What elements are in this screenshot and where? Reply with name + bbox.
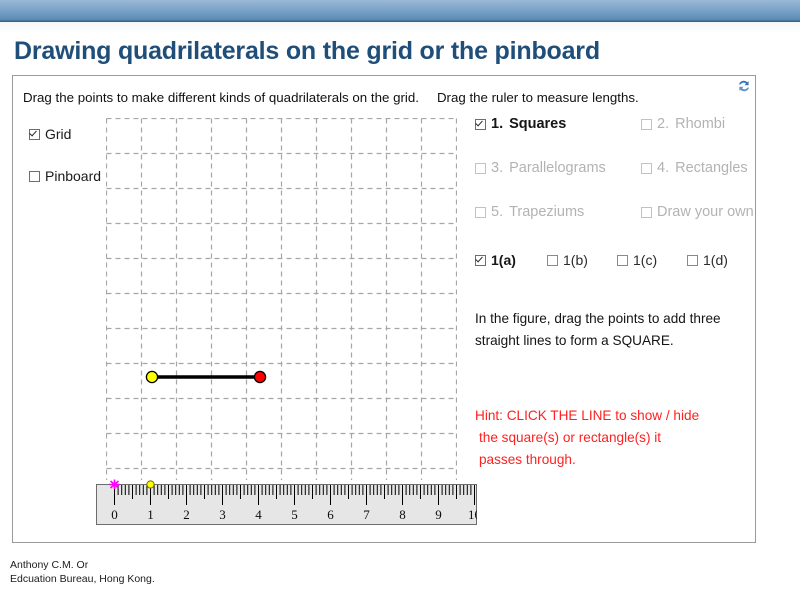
option-rhombi-label: Rhombi xyxy=(675,116,725,132)
sub-option-1a-label: 1(a) xyxy=(491,252,516,268)
checkbox-pinboard-box[interactable] xyxy=(29,171,40,182)
hint-block: Hint: CLICK THE LINE to show / hide the … xyxy=(475,405,756,471)
checkbox-grid-box[interactable] xyxy=(29,129,40,140)
yellow-drag-point xyxy=(146,371,157,382)
option-parallelograms-label: Parallelograms xyxy=(509,160,606,176)
option-trapeziums-box[interactable] xyxy=(475,207,486,218)
option-squares-box[interactable] xyxy=(475,119,486,130)
instructions-right-text: Drag the ruler to measure lengths. xyxy=(437,90,639,105)
sub-option-1c-box[interactable] xyxy=(617,255,628,266)
page-title: Drawing quadrilaterals on the grid or th… xyxy=(14,37,774,66)
sub-option-1b-label: 1(b) xyxy=(563,252,588,268)
sub-option-1b[interactable]: 1(b) xyxy=(547,252,588,268)
option-parallelograms-box[interactable] xyxy=(475,163,486,174)
yellow-ruler-marker xyxy=(147,481,154,488)
svg-text:4: 4 xyxy=(255,507,262,522)
grid-lines xyxy=(107,119,458,481)
option-draw-your-own-label: Draw your own xyxy=(657,204,754,220)
display-mode-controls: Grid Pinboard xyxy=(29,126,115,210)
ruler[interactable]: 0 1 2 3 4 5 6 7 8 9 10 xyxy=(96,479,477,525)
sub-option-1a[interactable]: 1(a) xyxy=(475,252,516,268)
checkbox-pinboard[interactable]: Pinboard xyxy=(29,168,115,184)
checkbox-grid[interactable]: Grid xyxy=(29,126,115,142)
slide-canvas: Drawing quadrilaterals on the grid or th… xyxy=(0,0,800,600)
footer-credit: Anthony C.M. Or Edcuation Bureau, Hong K… xyxy=(10,558,155,586)
hint-line-2: the square(s) or rectangle(s) it xyxy=(479,430,661,445)
task-line-2: straight lines to form a SQUARE. xyxy=(475,330,756,352)
option-draw-your-own[interactable]: Draw your own xyxy=(641,204,754,220)
svg-text:10: 10 xyxy=(468,507,477,522)
instructions-left-text: Drag the points to make different kinds … xyxy=(23,90,419,105)
sub-option-1a-box[interactable] xyxy=(475,255,486,266)
sub-option-1c[interactable]: 1(c) xyxy=(617,252,657,268)
sub-option-1d[interactable]: 1(d) xyxy=(687,252,728,268)
option-squares-number: 1. xyxy=(491,116,503,132)
option-rhombi[interactable]: 2. Rhombi xyxy=(641,116,725,132)
svg-text:9: 9 xyxy=(435,507,442,522)
svg-text:3: 3 xyxy=(219,507,226,522)
hint-line-3: passes through. xyxy=(479,452,576,467)
svg-text:8: 8 xyxy=(399,507,406,522)
svg-text:6: 6 xyxy=(327,507,334,522)
option-trapeziums-label: Trapeziums xyxy=(509,204,584,220)
banner-sheen xyxy=(0,22,800,34)
option-rectangles-label: Rectangles xyxy=(675,160,748,176)
sub-option-1d-label: 1(d) xyxy=(703,252,728,268)
sub-option-1d-box[interactable] xyxy=(687,255,698,266)
svg-text:7: 7 xyxy=(363,507,370,522)
footer-organisation: Edcuation Bureau, Hong Kong. xyxy=(10,572,155,586)
sub-option-1b-box[interactable] xyxy=(547,255,558,266)
option-draw-your-own-box[interactable] xyxy=(641,207,652,218)
option-rectangles[interactable]: 4. Rectangles xyxy=(641,160,748,176)
applet-panel: Drag the points to make different kinds … xyxy=(12,75,756,543)
option-parallelograms[interactable]: 3. Parallelograms xyxy=(475,160,606,176)
checkbox-grid-label: Grid xyxy=(45,126,71,142)
option-trapeziums[interactable]: 5. Trapeziums xyxy=(475,204,584,220)
magenta-origin-marker xyxy=(110,480,120,490)
red-drag-point xyxy=(254,371,265,382)
option-trapeziums-number: 5. xyxy=(491,204,503,220)
panel-instructions: Drag the points to make different kinds … xyxy=(23,90,749,105)
svg-text:2: 2 xyxy=(183,507,190,522)
checkbox-pinboard-label: Pinboard xyxy=(45,168,101,184)
option-rhombi-number: 2. xyxy=(657,116,669,132)
svg-text:1: 1 xyxy=(147,507,154,522)
task-line-1: In the figure, drag the points to add th… xyxy=(475,308,756,330)
option-rectangles-box[interactable] xyxy=(641,163,652,174)
sub-option-1c-label: 1(c) xyxy=(633,252,657,268)
footer-author: Anthony C.M. Or xyxy=(10,558,155,572)
option-squares-label: Squares xyxy=(509,116,566,132)
svg-text:0: 0 xyxy=(111,507,118,522)
option-squares[interactable]: 1. Squares xyxy=(475,116,566,132)
grid-figure[interactable] xyxy=(106,118,457,480)
task-description: In the figure, drag the points to add th… xyxy=(475,308,756,352)
hint-line-1: Hint: CLICK THE LINE to show / hide xyxy=(475,405,756,427)
top-banner xyxy=(0,0,800,23)
option-parallelograms-number: 3. xyxy=(491,160,503,176)
option-rhombi-box[interactable] xyxy=(641,119,652,130)
svg-text:5: 5 xyxy=(291,507,298,522)
option-rectangles-number: 4. xyxy=(657,160,669,176)
